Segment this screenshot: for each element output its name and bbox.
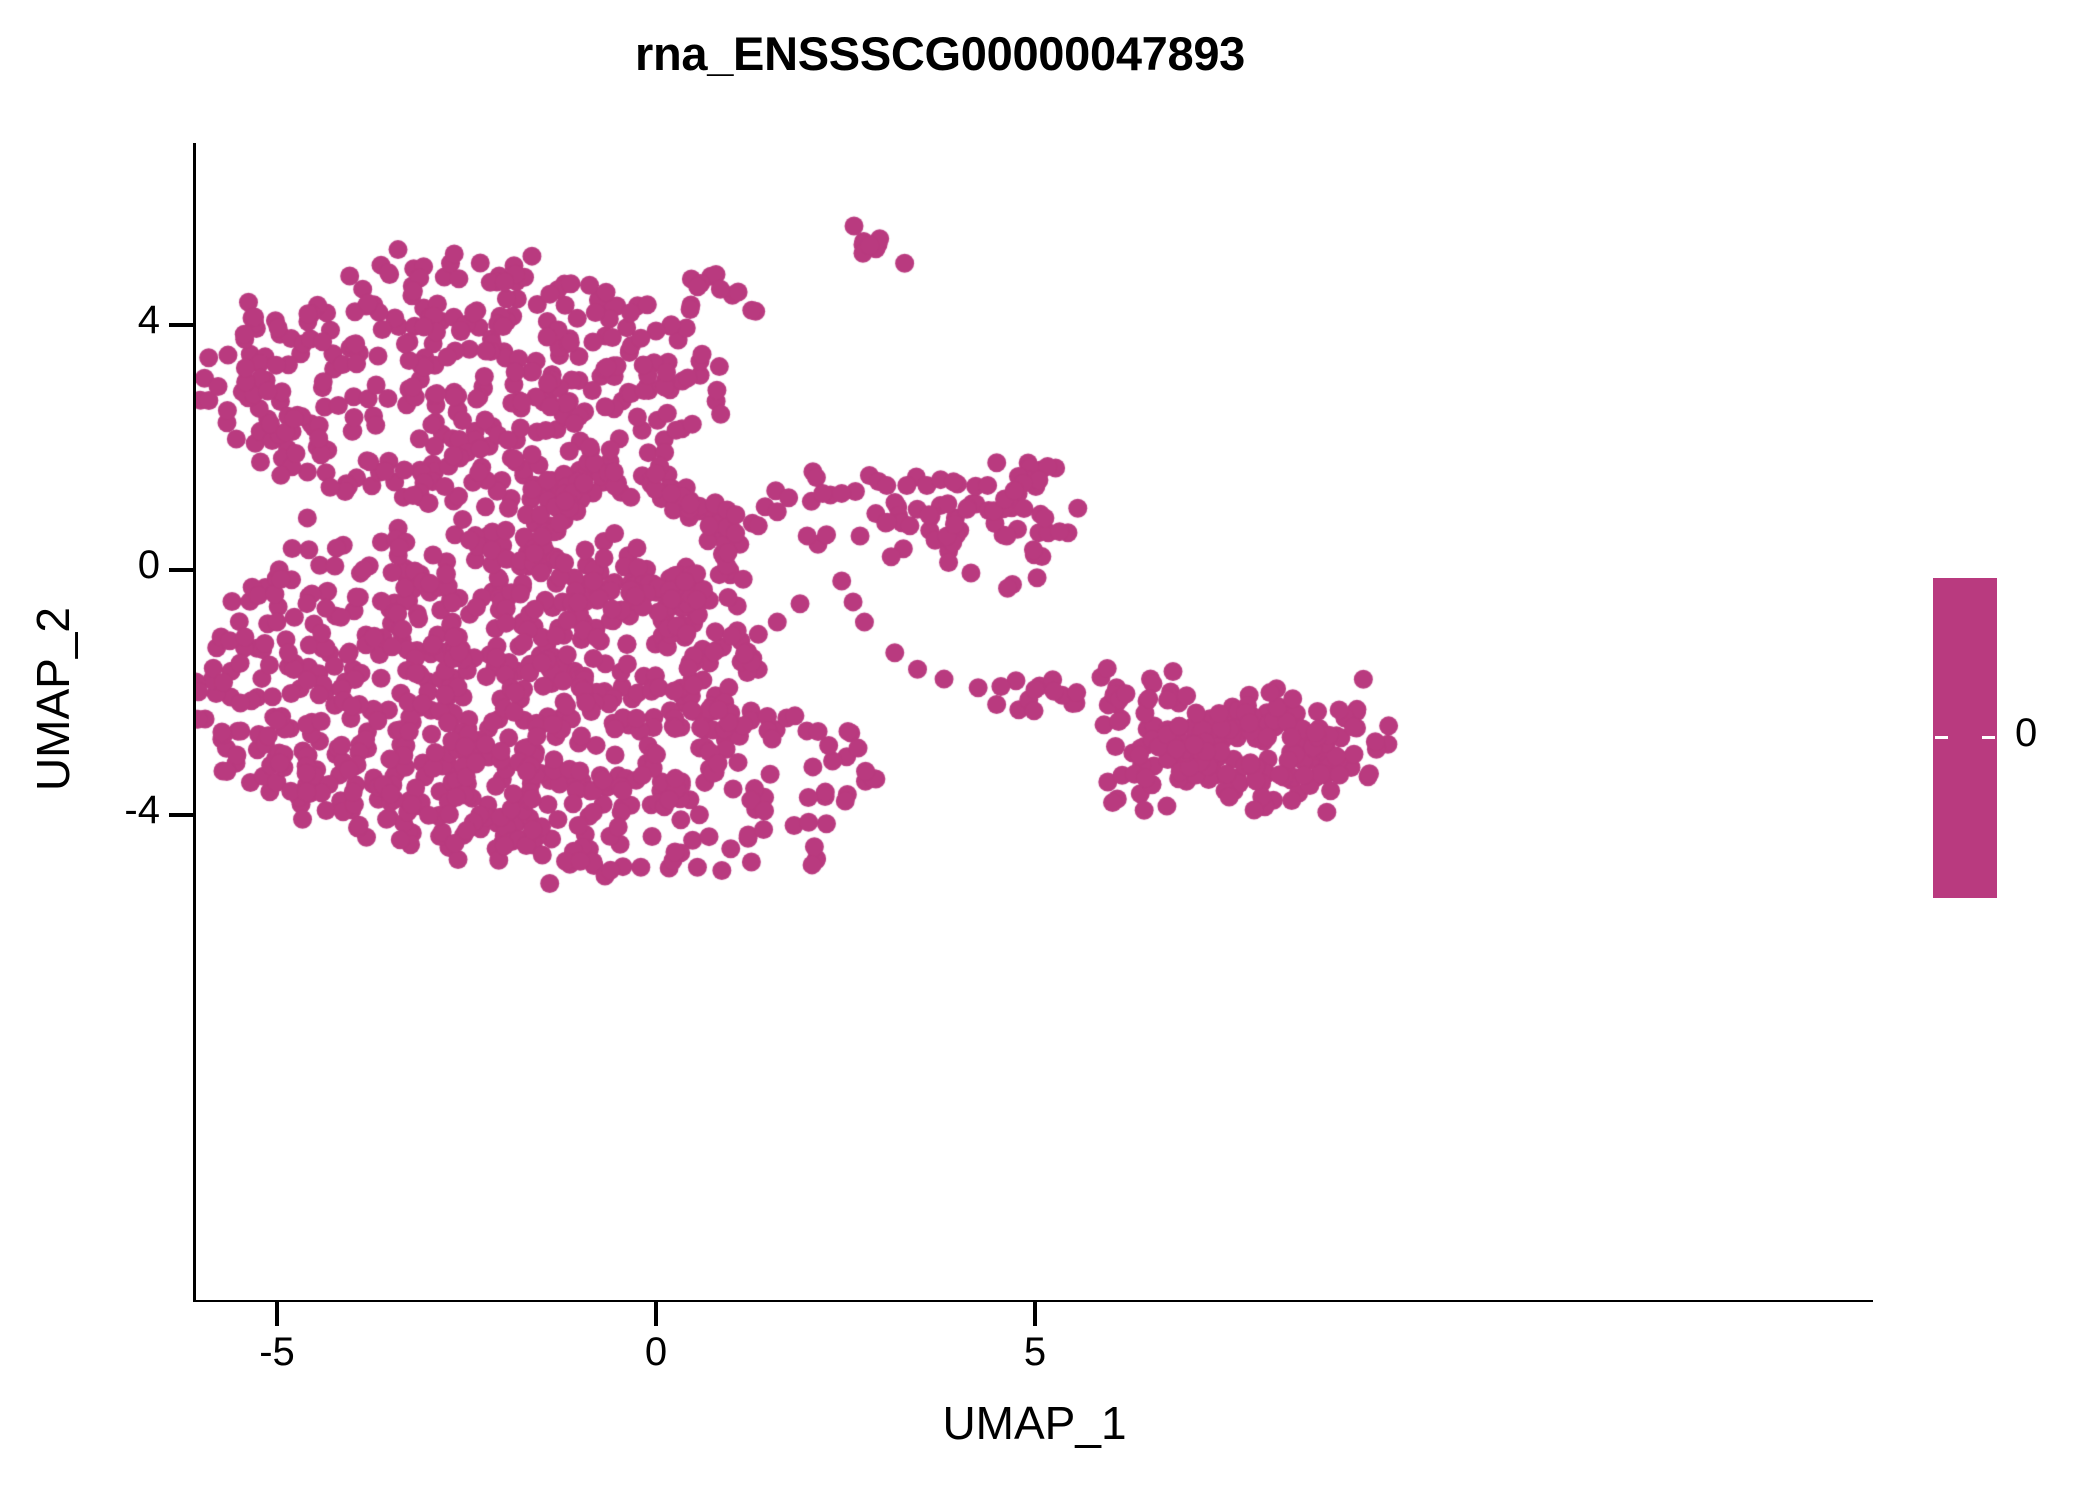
y-tick-label-0: 4 <box>0 298 160 343</box>
y-tick-label-2: -4 <box>0 788 160 833</box>
legend-colorbar: 0 <box>1933 578 2100 918</box>
x-tick-0 <box>275 1301 279 1326</box>
x-tick-label-0: -5 <box>197 1330 357 1375</box>
plot-panel <box>196 143 1873 1300</box>
umap-feature-plot: rna_ENSSSCG00000047893 40-4-505 UMAP_1 U… <box>0 0 2100 1500</box>
page-title: rna_ENSSSCG00000047893 <box>0 26 1880 81</box>
scatter-points-layer <box>196 143 1873 1300</box>
colorbar-tick-left <box>1935 736 1948 739</box>
colorbar-tick-right <box>1982 736 1995 739</box>
colorbar-gradient <box>1933 578 1997 898</box>
x-tick-1 <box>654 1301 658 1326</box>
y-tick-0 <box>169 323 194 327</box>
x-axis-label: UMAP_1 <box>196 1396 1873 1450</box>
y-tick-label-1: 0 <box>0 543 160 588</box>
colorbar-tick-label-0: 0 <box>2015 711 2037 756</box>
y-tick-2 <box>169 813 194 817</box>
y-tick-1 <box>169 568 194 572</box>
y-axis-label: UMAP_2 <box>26 349 80 1049</box>
x-tick-2 <box>1033 1301 1037 1326</box>
x-tick-label-1: 0 <box>576 1330 736 1375</box>
x-tick-label-2: 5 <box>955 1330 1115 1375</box>
